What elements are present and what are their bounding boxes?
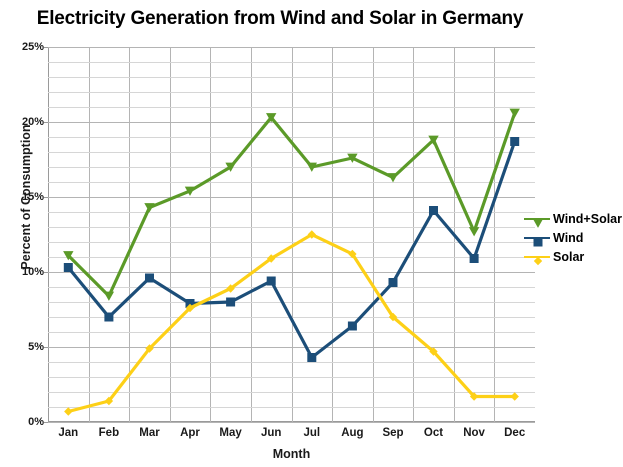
legend-label: Wind [550, 231, 583, 245]
data-point-marker [470, 254, 479, 263]
legend-swatch-triangle-icon [524, 212, 550, 226]
data-point-marker [104, 292, 114, 301]
legend-swatch-diamond-icon [524, 250, 550, 264]
data-point-marker [534, 256, 542, 264]
x-axis-tick-label: Dec [488, 427, 542, 439]
data-point-marker [64, 263, 73, 272]
series-layer [48, 47, 535, 422]
legend-swatch-square-icon [524, 231, 550, 245]
chart-container: Electricity Generation from Wind and Sol… [0, 0, 623, 467]
data-point-marker [469, 227, 479, 236]
plot-area [48, 47, 535, 422]
data-point-marker [267, 277, 276, 286]
data-point-marker [534, 237, 543, 246]
series-line [68, 113, 514, 296]
series-wind [64, 137, 519, 362]
data-point-marker [307, 353, 316, 362]
data-point-marker [348, 322, 357, 331]
series-solar [64, 230, 519, 415]
data-point-marker [511, 392, 519, 400]
data-point-marker [226, 298, 235, 307]
data-point-marker [104, 313, 113, 322]
gridline-major-horizontal [48, 422, 535, 423]
data-point-marker [429, 206, 438, 215]
legend-item-wind-plus-solar[interactable]: Wind+Solar [524, 209, 623, 228]
data-point-marker [389, 278, 398, 287]
data-point-marker [145, 274, 154, 283]
series-wind-plus-solar [63, 109, 520, 301]
chart-title: Electricity Generation from Wind and Sol… [0, 8, 560, 30]
series-line [68, 235, 514, 412]
legend-item-wind[interactable]: Wind [524, 228, 623, 247]
legend-label: Wind+Solar [550, 212, 622, 226]
data-point-marker [533, 218, 543, 227]
x-axis-title: Month [48, 447, 535, 461]
chart-legend: Wind+SolarWindSolar [524, 209, 623, 266]
legend-item-solar[interactable]: Solar [524, 247, 623, 266]
y-axis-tick-label: 25% [0, 41, 44, 53]
y-axis-title: Percent of Consumption [19, 87, 33, 307]
data-point-marker [64, 407, 72, 415]
y-axis-tick-label: 0% [0, 416, 44, 428]
data-point-marker [388, 173, 398, 182]
legend-label: Solar [550, 250, 584, 264]
data-point-marker [510, 109, 520, 118]
x-axis-ticks: JanFebMarAprMayJunJulAugSepOctNovDec [48, 427, 535, 445]
y-axis-tick-label: 5% [0, 341, 44, 353]
data-point-marker [144, 203, 154, 212]
data-point-marker [510, 137, 519, 146]
